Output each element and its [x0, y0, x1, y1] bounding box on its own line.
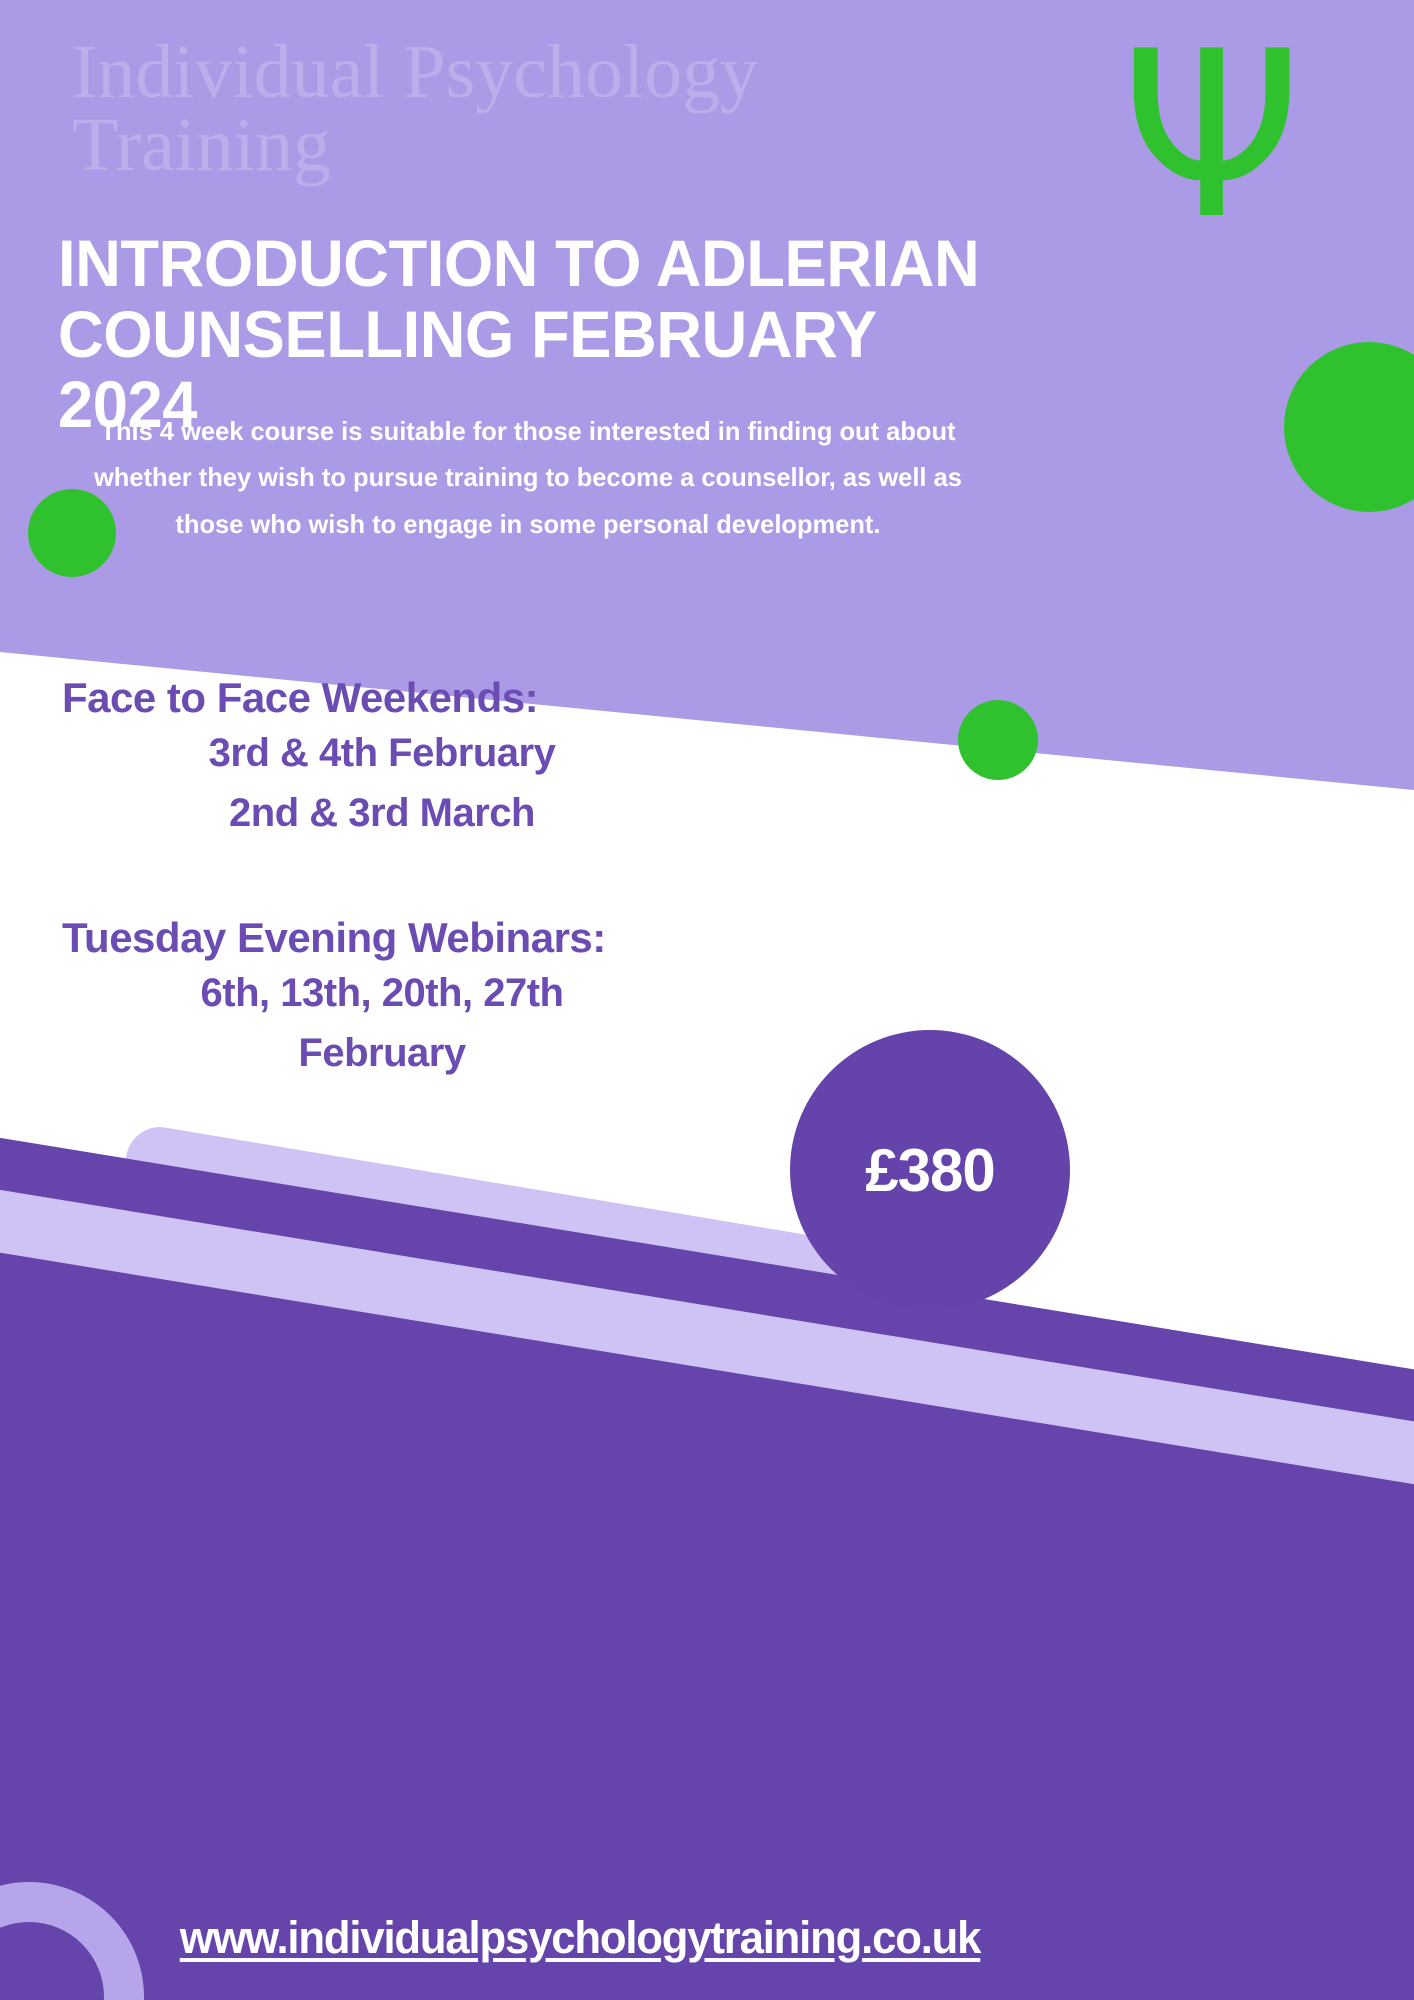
- schedule-webinars: Tuesday Evening Webinars: 6th, 13th, 20t…: [62, 912, 702, 1083]
- psi-icon: Ψ: [1121, 22, 1302, 252]
- schedule-face-to-face: Face to Face Weekends: 3rd & 4th Februar…: [62, 672, 702, 843]
- green-circle-decoration-middle: [958, 700, 1038, 780]
- price-badge: £380: [790, 1030, 1070, 1310]
- schedule-webinars-heading: Tuesday Evening Webinars:: [62, 912, 702, 963]
- schedule-face-to-face-date-1: 3rd & 4th February: [62, 723, 702, 783]
- website-url-link[interactable]: www.individualpsychologytraining.co.uk: [17, 1912, 1142, 1964]
- schedule-face-to-face-date-2: 2nd & 3rd March: [62, 783, 702, 843]
- schedule-webinars-date-1: 6th, 13th, 20th, 27th: [62, 963, 702, 1023]
- schedule-face-to-face-heading: Face to Face Weekends:: [62, 672, 702, 723]
- price-amount: £380: [865, 1136, 994, 1205]
- schedule-webinars-date-2: February: [62, 1023, 702, 1083]
- brand-lockup: Individual Psychology Training: [72, 36, 892, 182]
- poster-canvas: Individual Psychology Training Ψ INTRODU…: [0, 0, 1414, 2000]
- course-description: This 4 week course is suitable for those…: [60, 408, 996, 547]
- brand-name: Individual Psychology Training: [72, 36, 892, 182]
